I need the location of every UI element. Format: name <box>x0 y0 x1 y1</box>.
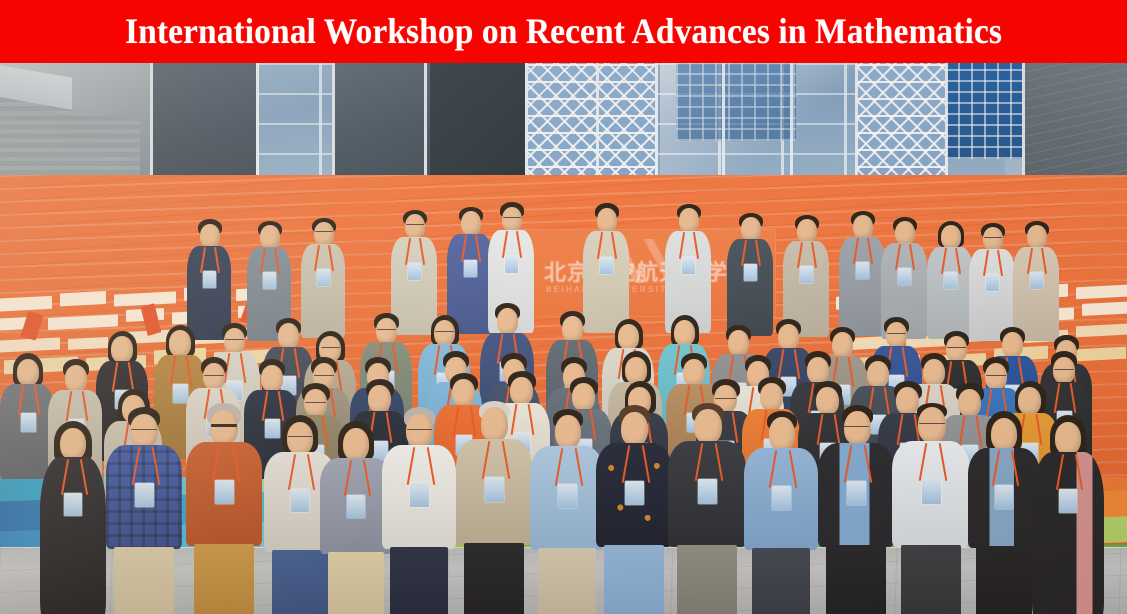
person-front-row <box>382 407 456 614</box>
participants-group <box>0 63 1127 614</box>
title-banner: International Workshop on Recent Advance… <box>0 0 1127 63</box>
person-front-row <box>744 411 818 614</box>
person-front-row <box>530 409 604 614</box>
person-front-row <box>596 405 672 614</box>
person-front-row <box>892 403 970 614</box>
person-front-row <box>1032 415 1104 614</box>
person-front-row <box>106 407 182 614</box>
screenshot-root: International Workshop on Recent Advance… <box>0 0 1127 614</box>
person-front-row <box>818 405 894 614</box>
person-front-row <box>38 421 108 614</box>
page-title: International Workshop on Recent Advance… <box>125 13 1002 51</box>
person <box>1012 221 1060 341</box>
person-front-row <box>968 411 1040 614</box>
person <box>968 223 1016 341</box>
person <box>186 219 232 339</box>
person <box>926 221 974 339</box>
person-front-row <box>186 403 262 614</box>
group-photo: ✦ 北京航空航天大学 BEIHANG UNIVERSITY <box>0 63 1127 614</box>
person-front-row <box>668 403 746 614</box>
person-front-row <box>456 401 532 614</box>
